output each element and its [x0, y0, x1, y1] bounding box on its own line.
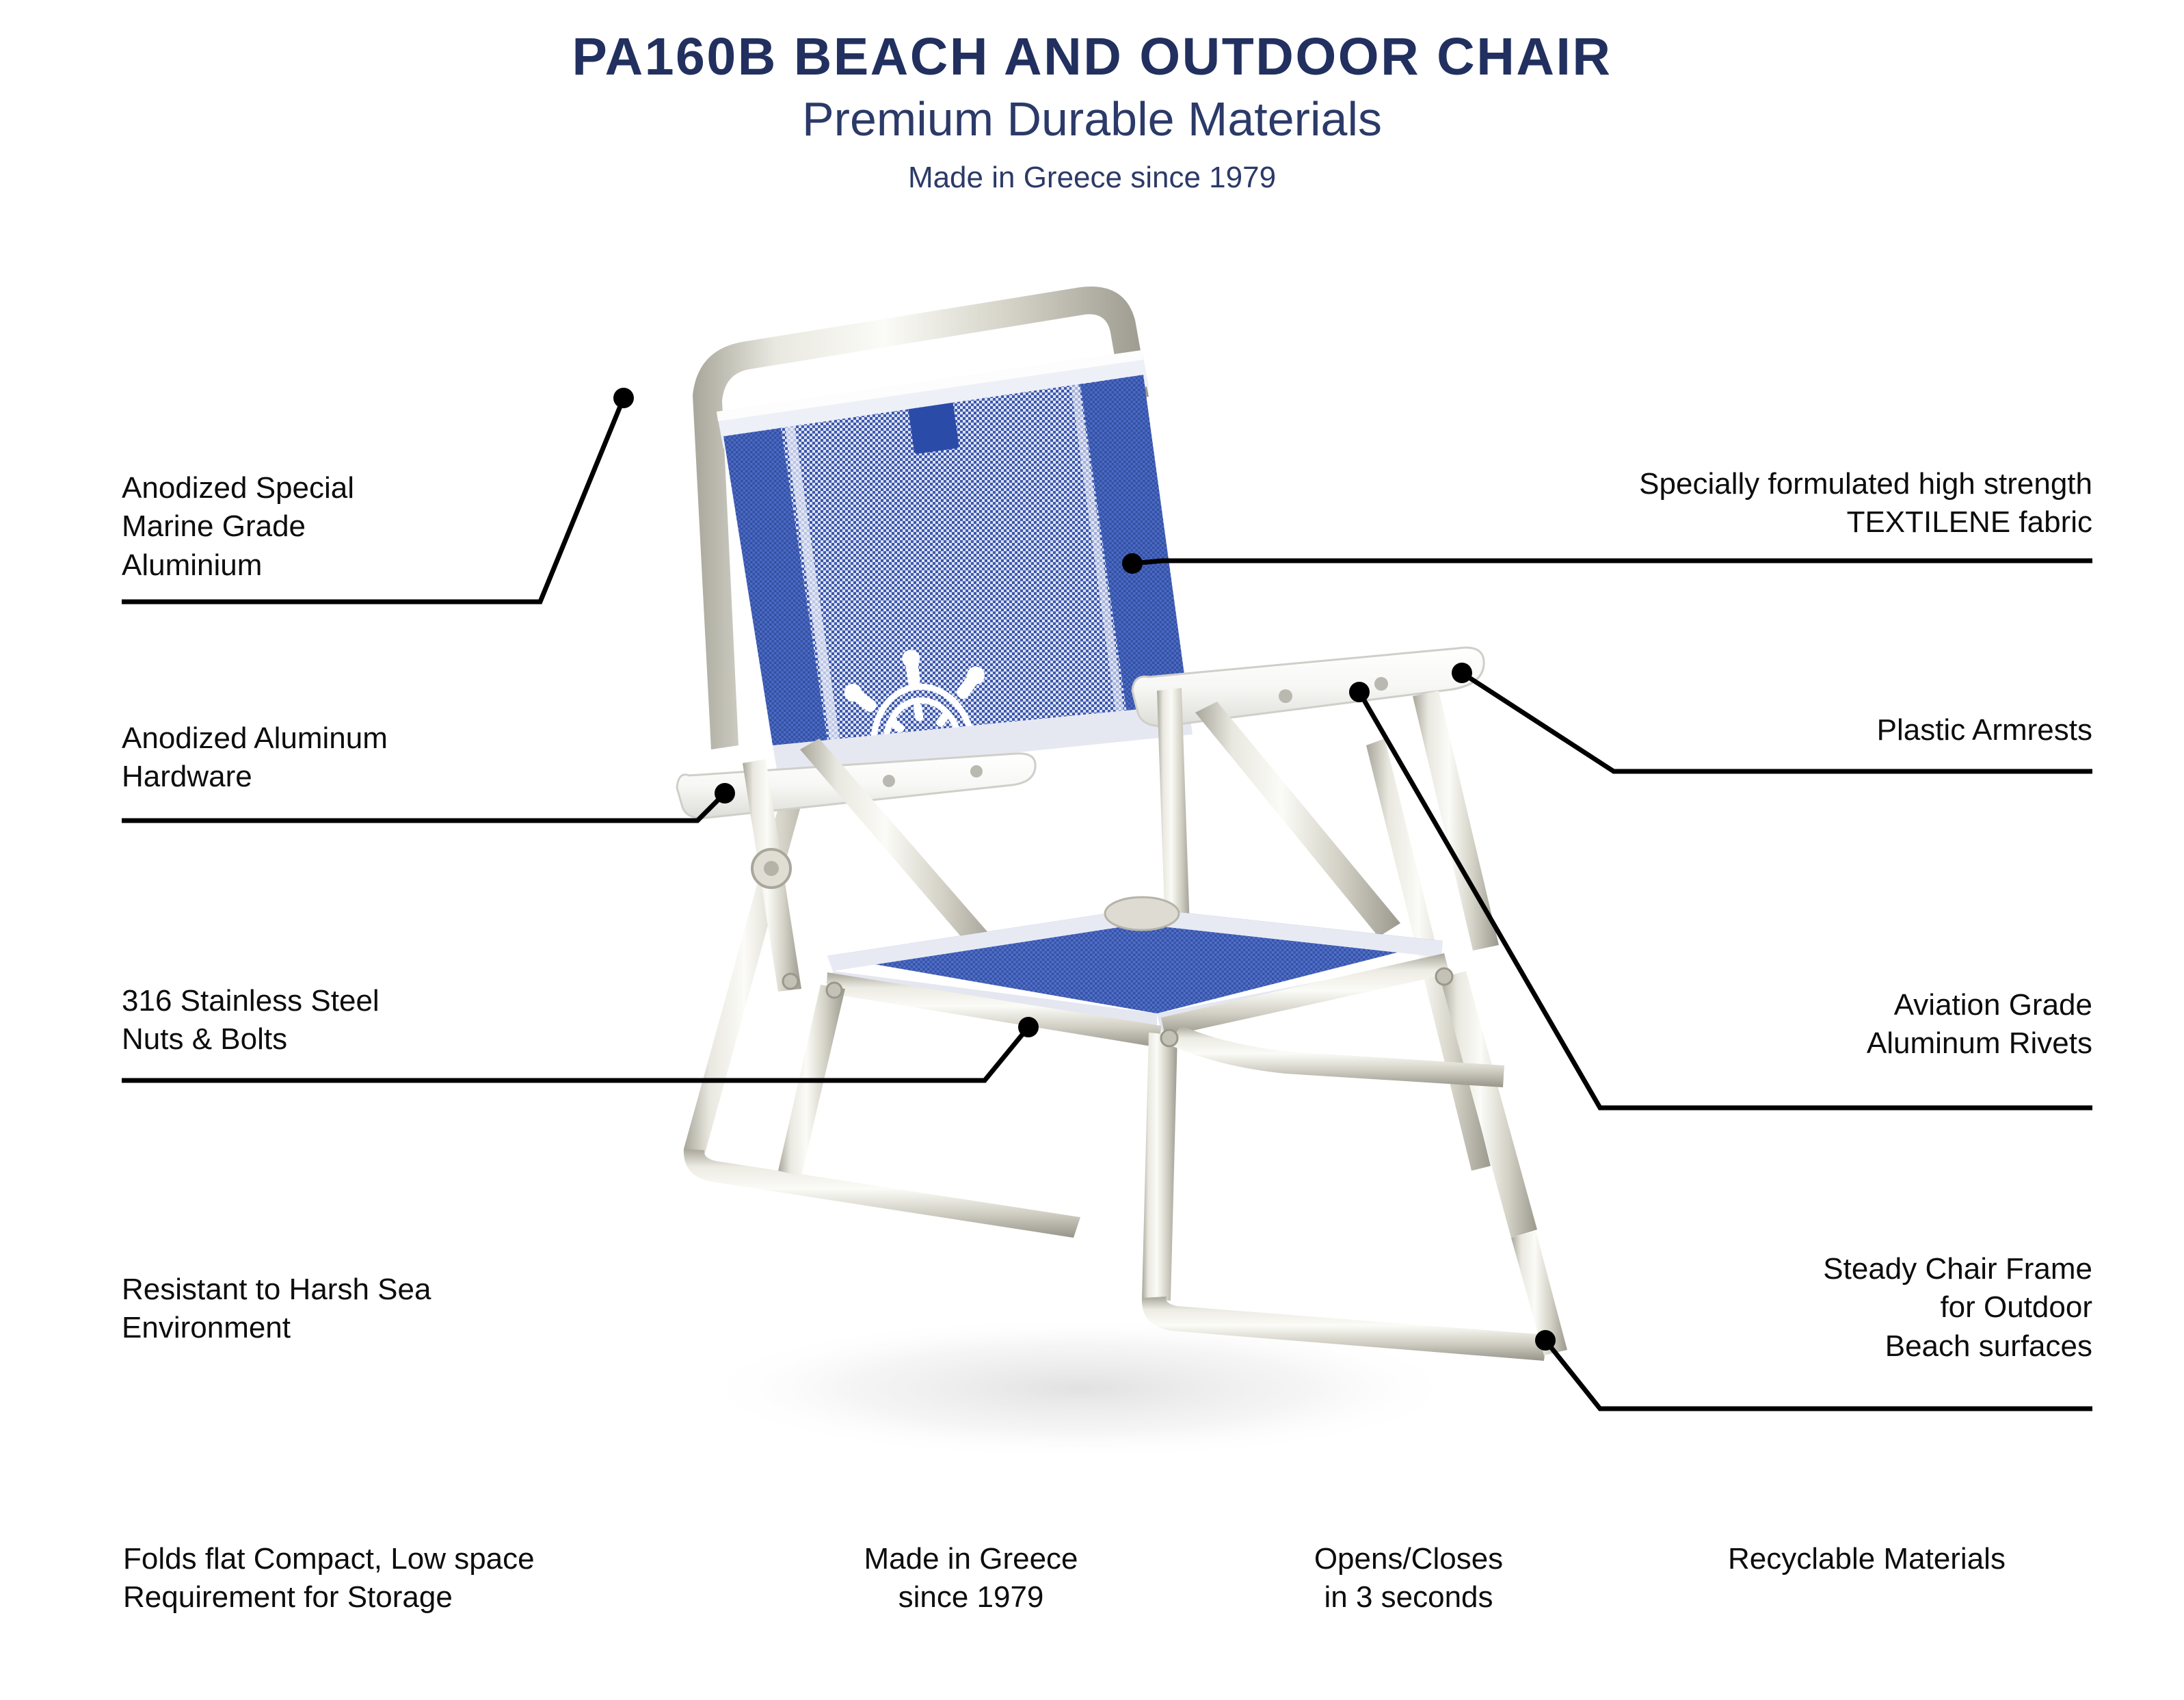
- callout-textilene-fabric: Specially formulated high strength TEXTI…: [1299, 465, 2092, 542]
- rivet-icon: [970, 765, 983, 778]
- callout-plastic-armrests: Plastic Armrests: [1477, 711, 2092, 749]
- page-subtitle: Premium Durable Materials: [0, 90, 2184, 148]
- callout-aluminum-rivets: Aviation Grade Aluminum Rivets: [1477, 986, 2092, 1063]
- infographic-canvas: PA160B BEACH AND OUTDOOR CHAIR Premium D…: [0, 0, 2184, 1700]
- callout-opens-closes: Opens/Closes in 3 seconds: [1258, 1540, 1559, 1617]
- callout-recyclable: Recyclable Materials: [1627, 1540, 2106, 1578]
- rivet-icon: [1279, 689, 1292, 703]
- callout-sea-resistant: Resistant to Harsh Sea Environment: [122, 1271, 641, 1348]
- rivet-icon: [1374, 677, 1388, 691]
- product-image-beach-chair: [602, 267, 1600, 1518]
- callout-folds-flat: Folds flat Compact, Low space Requiremen…: [123, 1540, 697, 1617]
- rivet-icon: [883, 775, 895, 787]
- page-tagline: Made in Greece since 1979: [0, 160, 2184, 196]
- page-title: PA160B BEACH AND OUTDOOR CHAIR: [0, 27, 2184, 86]
- callout-made-in-greece: Made in Greece since 1979: [814, 1540, 1128, 1617]
- chair-seat: [826, 897, 1450, 1048]
- callout-aluminum-hardware: Anodized Aluminum Hardware: [122, 719, 600, 797]
- callout-steady-frame: Steady Chair Frame for Outdoor Beach sur…: [1477, 1250, 2092, 1366]
- header-block: PA160B BEACH AND OUTDOOR CHAIR Premium D…: [0, 27, 2184, 196]
- callout-stainless-bolts: 316 Stainless Steel Nuts & Bolts: [122, 982, 600, 1059]
- callout-marine-aluminium: Anodized Special Marine Grade Aluminium: [122, 469, 559, 585]
- pivot-bracket: [1105, 897, 1179, 930]
